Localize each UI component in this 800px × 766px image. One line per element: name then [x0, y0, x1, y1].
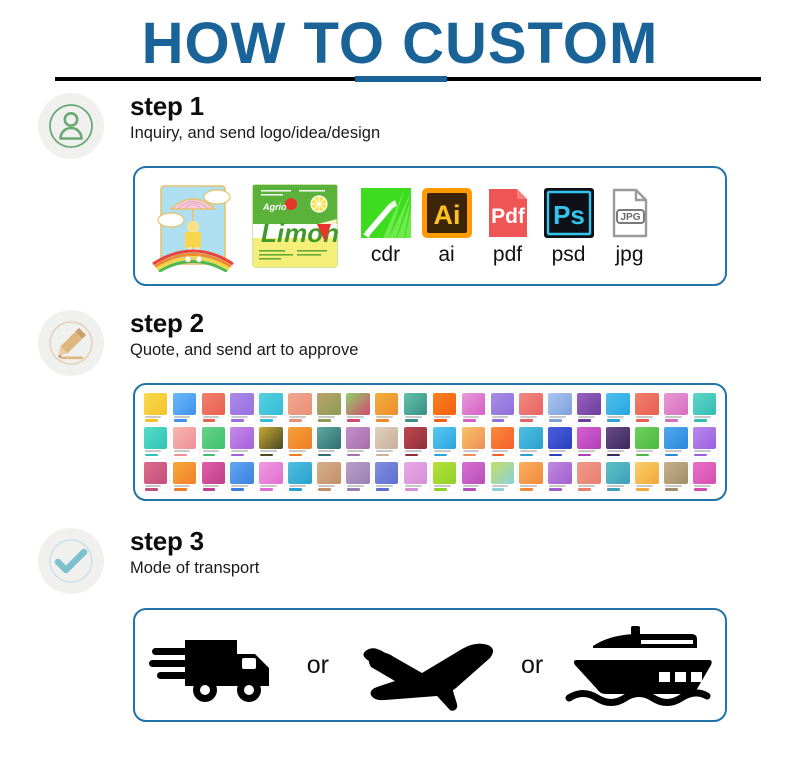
swatch-meta-line	[549, 450, 566, 452]
swatch-meta	[462, 415, 486, 424]
swatch-meta-code	[636, 419, 649, 422]
step-1-section: step 1 Inquiry, and send logo/idea/desig…	[0, 93, 800, 165]
swatch-meta	[173, 484, 197, 493]
swatch-card[interactable]	[547, 460, 574, 493]
cdr-icon	[359, 186, 413, 240]
swatch-meta-code	[231, 488, 244, 491]
swatch-meta	[288, 484, 312, 493]
swatch-meta	[635, 484, 659, 493]
file-format-list: cdr Ai ai	[355, 186, 660, 267]
swatch-card[interactable]	[402, 391, 429, 424]
swatch-meta-code	[260, 419, 273, 422]
page-title: HOW TO CUSTOM	[0, 14, 800, 74]
swatch-chip	[693, 393, 717, 415]
swatch-column	[170, 390, 199, 496]
swatch-meta-code	[607, 419, 620, 422]
swatch-meta-code	[203, 454, 216, 457]
step-2-section: step 2 Quote, and send art to approve	[0, 310, 800, 382]
swatch-meta	[317, 484, 341, 493]
step-3-section: step 3 Mode of transport	[0, 528, 800, 600]
swatch-meta-line	[174, 416, 191, 418]
swatch-meta	[548, 415, 572, 424]
swatch-chip	[317, 462, 341, 484]
swatch-meta-line	[520, 485, 537, 487]
swatch-chip	[375, 427, 399, 449]
file-format-ai: Ai ai	[416, 186, 477, 267]
swatch-card[interactable]	[200, 460, 227, 493]
swatch-chip	[375, 393, 399, 415]
swatch-meta-line	[492, 485, 509, 487]
swatch-chip	[462, 427, 486, 449]
swatch-chip	[173, 427, 197, 449]
swatch-meta-line	[289, 450, 306, 452]
swatch-column	[690, 390, 719, 496]
swatch-meta-code	[578, 488, 591, 491]
swatch-chip	[519, 427, 543, 449]
swatch-card[interactable]	[287, 460, 314, 493]
swatch-meta	[259, 484, 283, 493]
swatch-card[interactable]	[663, 426, 690, 459]
swatch-card[interactable]	[518, 391, 545, 424]
swatch-chip	[173, 462, 197, 484]
swatch-meta	[664, 449, 688, 458]
swatch-column	[228, 390, 257, 496]
swatch-column	[141, 390, 170, 496]
swatch-meta-code	[434, 454, 447, 457]
swatch-chip	[144, 462, 168, 484]
swatch-meta	[375, 415, 399, 424]
swatch-meta-line	[607, 450, 624, 452]
swatch-meta	[202, 415, 226, 424]
swatch-card[interactable]	[258, 391, 285, 424]
swatch-card[interactable]	[316, 391, 343, 424]
ai-icon: Ai	[420, 186, 474, 240]
swatch-meta	[577, 484, 601, 493]
swatch-column	[604, 390, 633, 496]
swatch-chip	[635, 393, 659, 415]
swatch-meta-line	[694, 450, 711, 452]
swatch-card[interactable]	[691, 460, 718, 493]
swatch-chip	[404, 427, 428, 449]
swatch-chip	[491, 462, 515, 484]
swatch-chip	[577, 427, 601, 449]
swatch-meta	[230, 484, 254, 493]
swatch-card[interactable]	[431, 426, 458, 459]
swatch-card[interactable]	[691, 391, 718, 424]
separator-or-1: or	[293, 651, 343, 680]
step-3-panel: or or	[133, 608, 727, 722]
swatch-column	[575, 390, 604, 496]
swatch-card[interactable]	[605, 460, 632, 493]
person-icon	[49, 104, 93, 148]
swatch-card[interactable]	[576, 426, 603, 459]
header: HOW TO CUSTOM	[0, 14, 800, 74]
swatch-meta-code	[434, 488, 447, 491]
swatch-card[interactable]	[316, 426, 343, 459]
swatch-card[interactable]	[142, 460, 169, 493]
swatch-card[interactable]	[576, 460, 603, 493]
file-format-psd: Ps psd	[538, 186, 599, 267]
swatch-chip	[519, 393, 543, 415]
swatch-meta	[693, 449, 717, 458]
swatch-card[interactable]	[171, 460, 198, 493]
swatch-meta	[462, 449, 486, 458]
swatch-meta-code	[607, 454, 620, 457]
swatch-chip	[346, 427, 370, 449]
swatch-meta	[404, 449, 428, 458]
swatch-card[interactable]	[634, 391, 661, 424]
swatch-meta	[202, 484, 226, 493]
swatch-meta	[346, 484, 370, 493]
psd-icon: Ps	[542, 186, 596, 240]
swatch-meta	[404, 415, 428, 424]
swatch-column	[257, 390, 286, 496]
check-icon	[49, 539, 93, 583]
swatch-meta-line	[694, 416, 711, 418]
swatch-chip	[288, 393, 312, 415]
swatch-meta-line	[636, 485, 653, 487]
swatch-chip	[635, 427, 659, 449]
swatch-meta-line	[434, 416, 451, 418]
airplane-icon-wrap	[349, 619, 501, 711]
swatch-meta-line	[665, 416, 682, 418]
swatch-card[interactable]	[229, 391, 256, 424]
swatch-meta-code	[694, 419, 707, 422]
swatch-meta-line	[636, 416, 653, 418]
swatch-meta-line	[463, 485, 480, 487]
swatch-card[interactable]	[402, 426, 429, 459]
swatch-meta-line	[260, 485, 277, 487]
swatch-card[interactable]	[142, 426, 169, 459]
swatch-meta	[491, 449, 515, 458]
swatch-meta-line	[203, 450, 220, 452]
swatch-card[interactable]	[547, 391, 574, 424]
swatch-column	[661, 390, 690, 496]
swatch-meta-line	[347, 416, 364, 418]
swatch-chip	[577, 462, 601, 484]
swatch-meta-code	[694, 454, 707, 457]
swatch-meta	[346, 449, 370, 458]
swatch-column	[401, 390, 430, 496]
swatch-card[interactable]	[489, 391, 516, 424]
color-swatch-grid	[141, 390, 719, 496]
swatch-card[interactable]	[576, 391, 603, 424]
swatch-column	[546, 390, 575, 496]
swatch-chip	[173, 393, 197, 415]
step-2-badge	[38, 310, 104, 376]
swatch-meta	[548, 449, 572, 458]
swatch-card[interactable]	[345, 391, 372, 424]
swatch-chip	[230, 393, 254, 415]
swatch-column	[459, 390, 488, 496]
swatch-meta-line	[405, 450, 422, 452]
swatch-meta-code	[145, 419, 158, 422]
swatch-card[interactable]	[373, 426, 400, 459]
swatch-meta-line	[607, 485, 624, 487]
swatch-card[interactable]	[373, 391, 400, 424]
swatch-meta-line	[145, 416, 162, 418]
swatch-chip	[548, 393, 572, 415]
swatch-meta-code	[492, 454, 505, 457]
swatch-meta	[519, 449, 543, 458]
swatch-chip	[259, 427, 283, 449]
swatch-meta-line	[145, 485, 162, 487]
swatch-meta-line	[203, 485, 220, 487]
step-3-subtitle: Mode of transport	[130, 557, 259, 579]
swatch-meta-line	[260, 416, 277, 418]
swatch-meta-code	[434, 419, 447, 422]
swatch-chip	[288, 427, 312, 449]
swatch-meta	[606, 449, 630, 458]
swatch-chip	[202, 393, 226, 415]
swatch-meta	[173, 449, 197, 458]
swatch-column	[430, 390, 459, 496]
swatch-meta-code	[405, 488, 418, 491]
swatch-meta-line	[376, 450, 393, 452]
swatch-meta-line	[174, 450, 191, 452]
step-2-subtitle: Quote, and send art to approve	[130, 339, 358, 361]
swatch-chip	[693, 427, 717, 449]
swatch-meta-line	[578, 450, 595, 452]
swatch-card[interactable]	[634, 426, 661, 459]
swatch-meta-line	[636, 450, 653, 452]
swatch-meta	[375, 484, 399, 493]
file-format-pdf: Pdf pdf	[477, 186, 538, 267]
swatch-card[interactable]	[316, 460, 343, 493]
swatch-meta-code	[347, 488, 360, 491]
swatch-meta-code	[405, 419, 418, 422]
swatch-meta-code	[376, 488, 389, 491]
swatch-chip	[664, 462, 688, 484]
separator-or-2: or	[507, 651, 557, 680]
swatch-meta	[230, 449, 254, 458]
swatch-meta-line	[434, 485, 451, 487]
file-format-jpg-label: jpg	[599, 243, 660, 267]
swatch-meta	[346, 415, 370, 424]
swatch-column	[632, 390, 661, 496]
swatch-card[interactable]	[518, 426, 545, 459]
step-1-panel: Agrio Limon	[133, 166, 727, 286]
swatch-meta-code	[289, 488, 302, 491]
swatch-meta-line	[492, 450, 509, 452]
swatch-meta-code	[347, 454, 360, 457]
swatch-chip	[230, 462, 254, 484]
swatch-card[interactable]	[663, 460, 690, 493]
step-1-subtitle: Inquiry, and send logo/idea/design	[130, 122, 380, 144]
swatch-meta-code	[665, 488, 678, 491]
swatch-card[interactable]	[373, 460, 400, 493]
swatch-meta	[491, 484, 515, 493]
swatch-meta-code	[260, 488, 273, 491]
swatch-meta-code	[203, 488, 216, 491]
swatch-card[interactable]	[605, 391, 632, 424]
swatch-meta-line	[405, 416, 422, 418]
swatch-meta-line	[347, 450, 364, 452]
swatch-chip	[606, 427, 630, 449]
swatch-card[interactable]	[229, 460, 256, 493]
swatch-chip	[693, 462, 717, 484]
swatch-card[interactable]	[287, 391, 314, 424]
swatch-card[interactable]	[345, 460, 372, 493]
swatch-meta-code	[463, 454, 476, 457]
step-1-title: step 1	[130, 91, 380, 121]
swatch-card[interactable]	[258, 460, 285, 493]
svg-text:Agrio: Agrio	[262, 202, 287, 212]
swatch-meta	[173, 415, 197, 424]
swatch-card[interactable]	[402, 460, 429, 493]
swatch-meta	[230, 415, 254, 424]
jpg-icon: JPG	[603, 186, 657, 240]
swatch-card[interactable]	[171, 391, 198, 424]
swatch-meta	[693, 415, 717, 424]
swatch-chip	[202, 462, 226, 484]
swatch-chip	[317, 393, 341, 415]
swatch-card[interactable]	[287, 426, 314, 459]
swatch-meta-code	[520, 488, 533, 491]
swatch-meta-line	[231, 485, 248, 487]
swatch-meta-line	[260, 450, 277, 452]
swatch-meta-code	[463, 419, 476, 422]
swatch-card[interactable]	[489, 460, 516, 493]
swatch-chip	[259, 462, 283, 484]
swatch-card[interactable]	[258, 426, 285, 459]
swatch-meta-code	[318, 454, 331, 457]
swatch-card[interactable]	[460, 391, 487, 424]
swatch-meta	[144, 415, 168, 424]
swatch-meta-code	[174, 488, 187, 491]
swatch-meta	[404, 484, 428, 493]
swatch-meta-code	[231, 419, 244, 422]
swatch-meta-line	[145, 450, 162, 452]
swatch-card[interactable]	[605, 426, 632, 459]
swatch-card[interactable]	[663, 391, 690, 424]
file-format-cdr-label: cdr	[355, 243, 416, 267]
swatch-meta-code	[665, 419, 678, 422]
swatch-meta-line	[434, 450, 451, 452]
swatch-card[interactable]	[460, 426, 487, 459]
swatch-meta-line	[492, 416, 509, 418]
swatch-meta-code	[145, 454, 158, 457]
swatch-chip	[317, 427, 341, 449]
swatch-meta	[548, 484, 572, 493]
swatch-meta-code	[549, 454, 562, 457]
step-3-title: step 3	[130, 526, 259, 556]
swatch-chip	[606, 462, 630, 484]
swatch-meta-line	[231, 450, 248, 452]
swatch-card[interactable]	[691, 426, 718, 459]
swatch-card[interactable]	[142, 391, 169, 424]
swatch-meta-code	[578, 419, 591, 422]
limon-package: Agrio Limon	[247, 180, 343, 272]
step-1-badge	[38, 93, 104, 159]
swatch-chip	[548, 462, 572, 484]
swatch-meta-line	[318, 485, 335, 487]
swatch-card[interactable]	[200, 426, 227, 459]
swatch-meta	[491, 415, 515, 424]
truck-icon-wrap	[147, 622, 287, 708]
swatch-chip	[664, 427, 688, 449]
swatch-card[interactable]	[547, 426, 574, 459]
swatch-meta-line	[347, 485, 364, 487]
swatch-meta-line	[318, 416, 335, 418]
step-3-header: step 3 Mode of transport	[0, 528, 800, 600]
swatch-meta-line	[289, 485, 306, 487]
swatch-chip	[462, 393, 486, 415]
swatch-column	[372, 390, 401, 496]
swatch-card[interactable]	[460, 460, 487, 493]
swatch-chip	[548, 427, 572, 449]
swatch-meta	[664, 415, 688, 424]
swatch-chip	[144, 393, 168, 415]
swatch-card[interactable]	[200, 391, 227, 424]
svg-text:Ps: Ps	[553, 200, 585, 230]
file-format-cdr: cdr	[355, 186, 416, 267]
swatch-meta-code	[376, 454, 389, 457]
swatch-column	[343, 390, 372, 496]
swatch-meta-code	[520, 454, 533, 457]
swatch-card[interactable]	[431, 391, 458, 424]
swatch-chip	[635, 462, 659, 484]
step-1-text: step 1 Inquiry, and send logo/idea/desig…	[130, 91, 380, 144]
swatch-meta-code	[636, 454, 649, 457]
swatch-meta-line	[520, 416, 537, 418]
svg-text:JPG: JPG	[620, 212, 640, 223]
swatch-card[interactable]	[518, 460, 545, 493]
swatch-card[interactable]	[229, 426, 256, 459]
swatch-chip	[346, 393, 370, 415]
swatch-chip	[144, 427, 168, 449]
swatch-meta	[519, 415, 543, 424]
swatch-column	[199, 390, 228, 496]
swatch-chip	[404, 462, 428, 484]
swatch-meta-code	[174, 454, 187, 457]
swatch-card[interactable]	[345, 426, 372, 459]
swatch-meta	[288, 449, 312, 458]
swatch-chip	[375, 462, 399, 484]
pdf-icon: Pdf	[481, 186, 535, 240]
swatch-card[interactable]	[489, 426, 516, 459]
swatch-meta	[288, 415, 312, 424]
step-2-panel	[133, 383, 727, 501]
swatch-meta	[433, 415, 457, 424]
swatch-meta-line	[463, 416, 480, 418]
swatch-meta-line	[694, 485, 711, 487]
swatch-card[interactable]	[171, 426, 198, 459]
swatch-chip	[491, 427, 515, 449]
swatch-card[interactable]	[634, 460, 661, 493]
swatch-meta-line	[578, 416, 595, 418]
swatch-meta	[375, 449, 399, 458]
swatch-chip	[664, 393, 688, 415]
swatch-chip	[433, 393, 457, 415]
swatch-chip	[288, 462, 312, 484]
swatch-meta-line	[376, 416, 393, 418]
swatch-meta-code	[347, 419, 360, 422]
swatch-meta	[577, 415, 601, 424]
swatch-meta	[144, 449, 168, 458]
ship-icon	[563, 620, 713, 710]
swatch-meta	[606, 484, 630, 493]
svg-text:Pdf: Pdf	[491, 205, 526, 228]
swatch-card[interactable]	[431, 460, 458, 493]
swatch-chip	[491, 393, 515, 415]
swatch-chip	[346, 462, 370, 484]
swatch-meta	[635, 449, 659, 458]
step-2-text: step 2 Quote, and send art to approve	[130, 308, 358, 361]
step-3-text: step 3 Mode of transport	[130, 526, 259, 579]
swatch-meta	[317, 415, 341, 424]
swatch-meta-line	[289, 416, 306, 418]
